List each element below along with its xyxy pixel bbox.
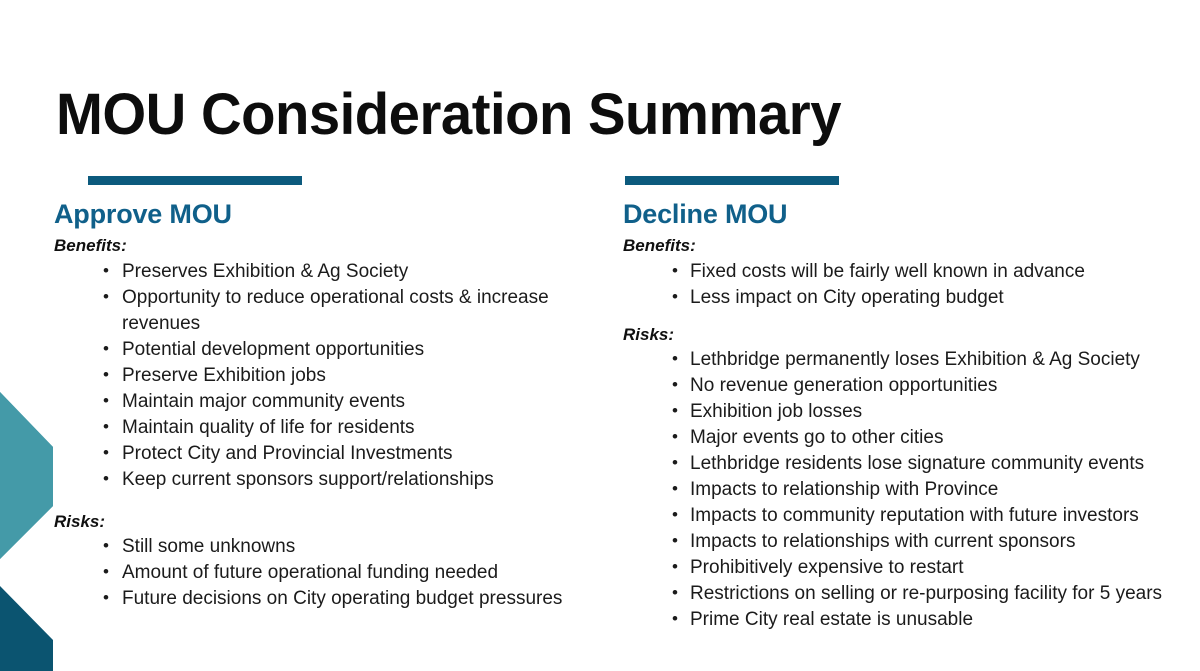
list-item: Lethbridge residents lose signature comm… — [623, 451, 1198, 477]
list-item: Lethbridge permanently loses Exhibition … — [623, 347, 1198, 373]
list-item: Prime City real estate is unusable — [623, 607, 1198, 633]
list-item: Impacts to community reputation with fut… — [623, 503, 1198, 529]
list-item: Prohibitively expensive to restart — [623, 555, 1198, 581]
list-item: Still some unknowns — [54, 534, 599, 560]
list-item: Major events go to other cities — [623, 425, 1198, 451]
list-item: Keep current sponsors support/relationsh… — [54, 467, 599, 493]
accent-bar-decline — [625, 176, 839, 185]
list-item: Future decisions on City operating budge… — [54, 586, 599, 612]
list-item: Impacts to relationship with Province — [623, 477, 1198, 503]
chevron-light-shape-body — [0, 392, 53, 559]
list-item: No revenue generation opportunities — [623, 373, 1198, 399]
column-approve-mou: Approve MOU Benefits: Preserves Exhibiti… — [54, 176, 599, 612]
benefits-label-approve: Benefits: — [54, 235, 599, 256]
benefits-label-decline: Benefits: — [623, 235, 1198, 256]
accent-bar-approve — [88, 176, 302, 185]
benefits-list-approve: Preserves Exhibition & Ag Society Opport… — [54, 259, 599, 493]
column-heading-decline: Decline MOU — [623, 200, 1198, 228]
chevron-dark-shape — [0, 586, 53, 671]
column-decline-mou: Decline MOU Benefits: Fixed costs will b… — [623, 176, 1198, 633]
list-item: Preserve Exhibition jobs — [54, 363, 599, 389]
list-item: Maintain quality of life for residents — [54, 415, 599, 441]
list-item: Preserves Exhibition & Ag Society — [54, 259, 599, 285]
chevron-light-shape — [0, 392, 53, 559]
list-item: Maintain major community events — [54, 389, 599, 415]
list-item: Less impact on City operating budget — [623, 285, 1198, 311]
list-item: Restrictions on selling or re-purposing … — [623, 581, 1198, 607]
list-item: Amount of future operational funding nee… — [54, 560, 599, 586]
list-item: Protect City and Provincial Investments — [54, 441, 599, 467]
list-item: Exhibition job losses — [623, 399, 1198, 425]
list-item: Fixed costs will be fairly well known in… — [623, 259, 1198, 285]
risks-list-decline: Lethbridge permanently loses Exhibition … — [623, 347, 1198, 633]
list-item: Potential development opportunities — [54, 337, 599, 363]
page-title: MOU Consideration Summary — [56, 86, 841, 144]
slide-canvas: MOU Consideration Summary Approve MOU Be… — [0, 0, 1200, 671]
list-item: Opportunity to reduce operational costs … — [54, 285, 599, 337]
benefits-list-decline: Fixed costs will be fairly well known in… — [623, 259, 1198, 311]
risks-list-approve: Still some unknowns Amount of future ope… — [54, 534, 599, 612]
column-heading-approve: Approve MOU — [54, 200, 599, 228]
list-item: Impacts to relationships with current sp… — [623, 529, 1198, 555]
risks-label-approve: Risks: — [54, 511, 599, 532]
risks-label-decline: Risks: — [623, 324, 1198, 345]
